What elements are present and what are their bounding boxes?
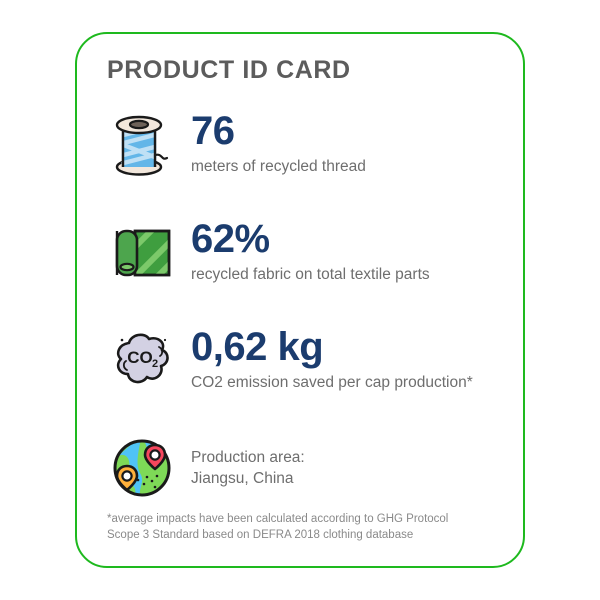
- location-text: Production area: Jiangsu, China: [181, 430, 305, 506]
- thread-spool-icon: [103, 106, 181, 182]
- product-id-card-page: PRODUCT ID CARD: [0, 0, 600, 600]
- co2-cloud-icon: CO 2: [103, 322, 181, 398]
- globe-location-icon: [103, 430, 181, 506]
- page-title: PRODUCT ID CARD: [107, 56, 351, 85]
- stat-value: 76: [191, 112, 366, 151]
- footnote: *average impacts have been calculated ac…: [107, 511, 497, 544]
- footnote-line-1: *average impacts have been calculated ac…: [107, 511, 497, 528]
- stat-row-location: Production area: Jiangsu, China: [77, 430, 523, 512]
- stat-label: meters of recycled thread: [191, 157, 366, 176]
- stat-value: 0,62 kg: [191, 328, 473, 367]
- product-id-card: PRODUCT ID CARD: [75, 32, 525, 568]
- stat-row-fabric: 62% recycled fabric on total textile par…: [77, 214, 523, 322]
- svg-text:CO: CO: [127, 348, 153, 367]
- stat-text-fabric: 62% recycled fabric on total textile par…: [181, 214, 430, 290]
- stat-text-co2: 0,62 kg CO2 emission saved per cap produ…: [181, 322, 473, 398]
- stat-label: CO2 emission saved per cap production*: [191, 373, 473, 392]
- stat-text-thread: 76 meters of recycled thread: [181, 106, 366, 182]
- location-heading: Production area:: [191, 447, 305, 468]
- fabric-roll-icon: [103, 214, 181, 290]
- svg-text:2: 2: [152, 358, 158, 370]
- stat-value: 62%: [191, 220, 430, 259]
- footnote-line-2: Scope 3 Standard based on DEFRA 2018 clo…: [107, 527, 497, 544]
- location-value: Jiangsu, China: [191, 468, 305, 489]
- stat-label: recycled fabric on total textile parts: [191, 265, 430, 284]
- stats-list: 76 meters of recycled thread: [77, 106, 523, 512]
- stat-row-thread: 76 meters of recycled thread: [77, 106, 523, 214]
- stat-row-co2: CO 2 0,62 kg CO2 emission saved per cap …: [77, 322, 523, 430]
